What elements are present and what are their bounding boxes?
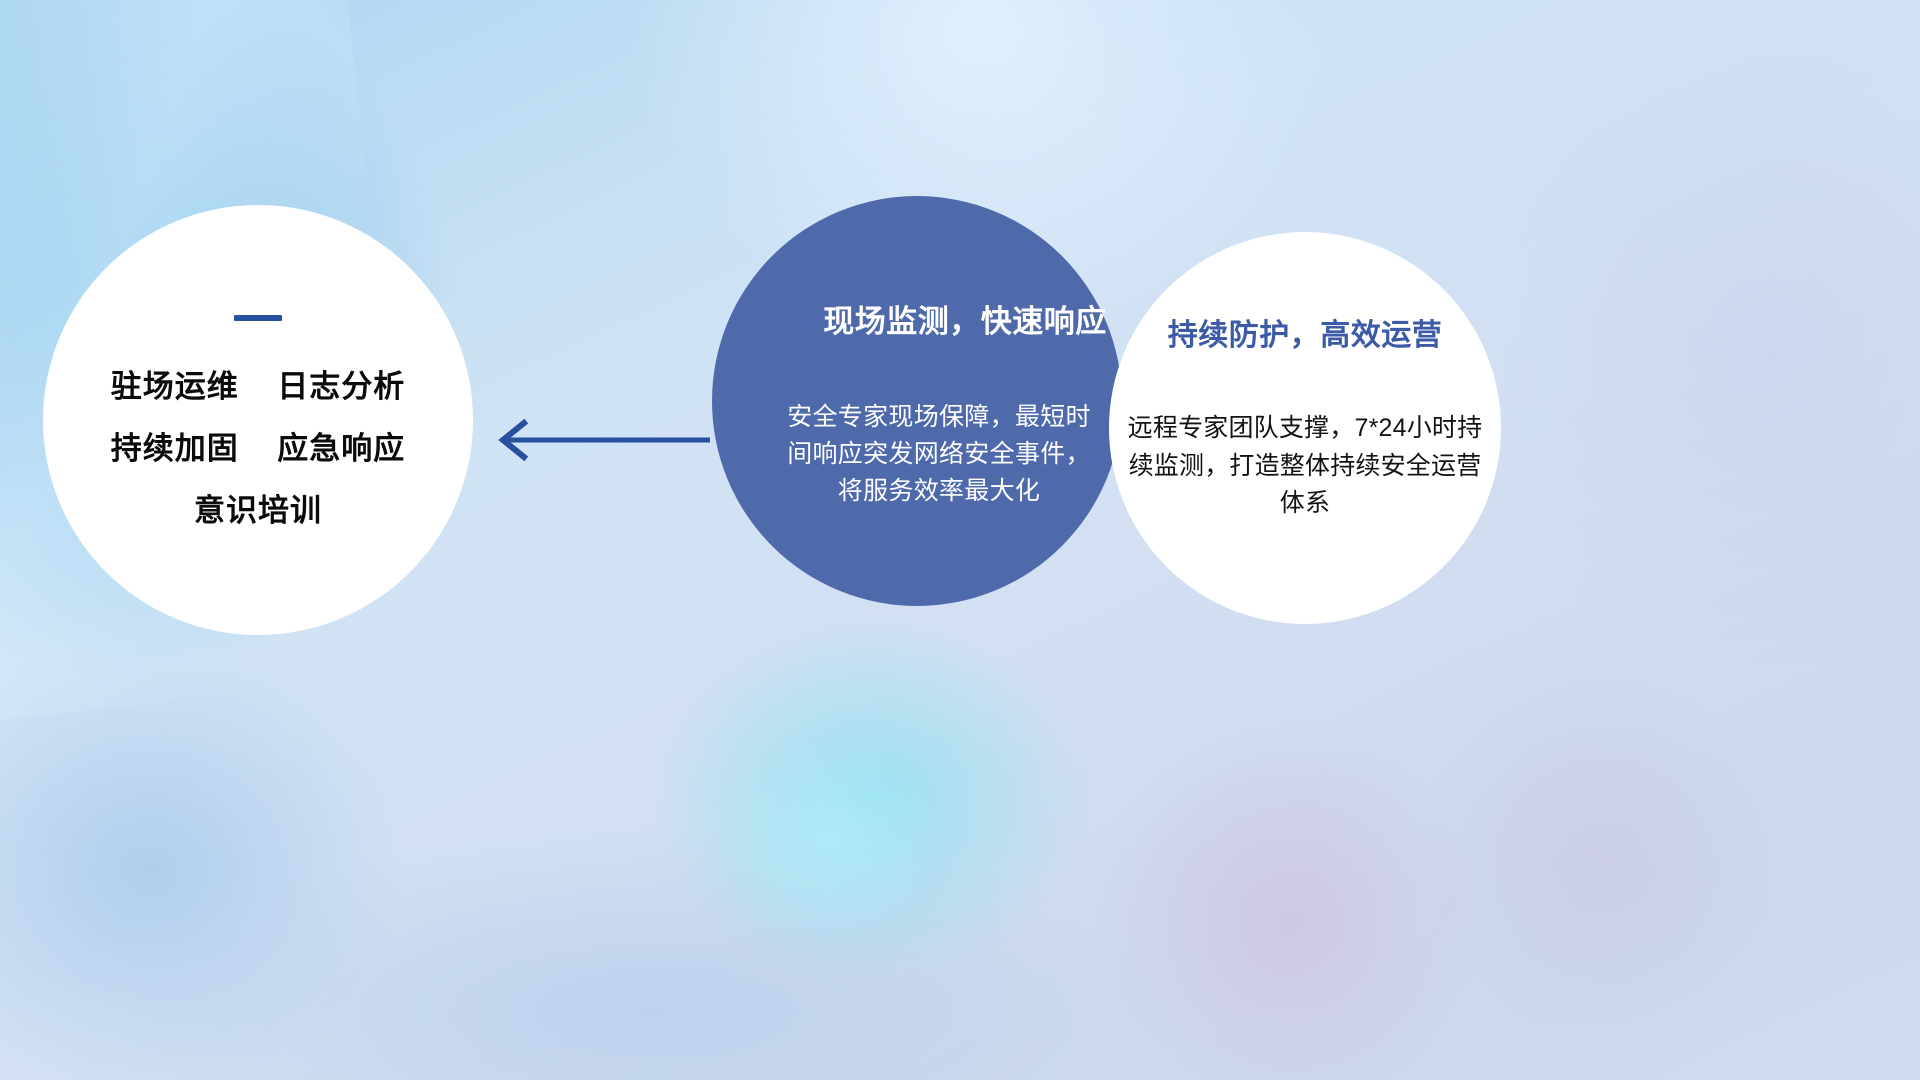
list-item: 意识培训 bbox=[111, 495, 405, 526]
continuous-protection-circle[interactable]: 持续防护，高效运营 远程专家团队支撑，7*24小时持续监测，打造整体持续安全运营… bbox=[1109, 232, 1501, 624]
list-item: 驻场运维 日志分析 bbox=[111, 371, 405, 402]
arrow-left-icon bbox=[480, 418, 710, 462]
onsite-monitoring-body: 安全专家现场保障，最短时间响应突发网络安全事件，将服务效率最大化 bbox=[783, 399, 1095, 509]
onsite-monitoring-title: 现场监测，快速响应 bbox=[823, 296, 1107, 341]
list-item: 持续加固 应急响应 bbox=[111, 433, 405, 464]
background-glow-lavender-right bbox=[1340, 600, 1860, 1080]
blue-dash-decoration bbox=[234, 315, 282, 321]
capabilities-circle[interactable]: 驻场运维 日志分析 持续加固 应急响应 意识培训 bbox=[43, 205, 473, 635]
background-glow-cyan-core bbox=[660, 690, 1000, 990]
continuous-protection-title: 持续防护，高效运营 bbox=[1168, 310, 1443, 354]
capabilities-list: 驻场运维 日志分析 持续加固 应急响应 意识培训 bbox=[111, 371, 405, 526]
onsite-monitoring-circle[interactable]: 现场监测，快速响应 安全专家现场保障，最短时间响应突发网络安全事件，将服务效率最… bbox=[712, 196, 1122, 606]
continuous-protection-body: 远程专家团队支撑，7*24小时持续监测，打造整体持续安全运营体系 bbox=[1121, 410, 1489, 523]
